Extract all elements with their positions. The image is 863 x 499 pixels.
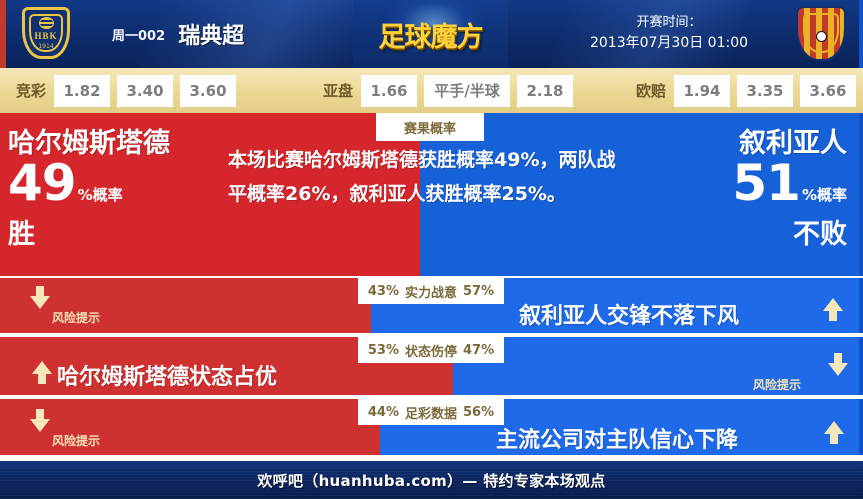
row3-risk-note: 风险提示 [52,432,100,449]
away-probability-outcome: 不败 [637,219,847,251]
row2-home-percent: 53% [368,343,399,358]
row3-home-percent: 44% [368,405,399,420]
away-probability-value-line: 51%概率 [637,159,847,219]
match-preview-infographic: HBK 1914 周一002 瑞典超 足球魔方 开赛时间： 2013年07月30… [0,0,863,499]
league-name: 瑞典超 [178,18,244,50]
odds-label-oupei: 欧赔 [636,80,666,101]
away-probability-summary: 叙利亚人 51%概率 不败 [637,129,847,251]
section-tag-result-probability: 赛果概率 [376,113,484,141]
row1-risk-arrow-down-icon [30,296,50,309]
away-probability-percent-suffix: %概率 [802,186,847,204]
row3-verdict-text: 主流公司对主队信心下降 [496,422,738,454]
away-probability-percent: 51 [732,154,800,212]
away-crest-ball-icon [816,31,827,42]
header-left-accent [0,0,6,68]
row3-right-accent [859,399,863,455]
odds-group-yapan: 亚盘 1.66 平手/半球 2.18 [323,75,580,107]
kickoff-time: 开赛时间： 2013年07月30日 01:00 [560,13,778,53]
odds-cell-oupei-3[interactable]: 3.66 [800,75,856,107]
match-round-label: 周一002 [112,25,165,44]
row1-risk-note: 风险提示 [52,309,100,326]
row1-away-percent: 57% [463,284,494,299]
header-right-accent [859,0,863,68]
home-probability-percent-suffix: %概率 [78,186,123,204]
odds-cell-jingcai-1[interactable]: 1.82 [54,75,110,107]
row3-risk-arrow-down-icon [30,419,50,432]
probability-right-accent [859,113,863,276]
row2-away-percent: 47% [463,343,494,358]
odds-label-yapan: 亚盘 [323,80,353,101]
odds-group-jingcai: 竞彩 1.82 3.40 3.60 [16,75,243,107]
result-probability-panel: 赛果概率 哈尔姆斯塔德 49%概率 胜 叙利亚人 51%概率 不败 本场比赛哈尔… [0,113,863,276]
row1-metric-name: 实力战意 [405,282,457,301]
row2-risk-arrow-down-icon [828,363,848,376]
row3-away-percent: 56% [463,405,494,420]
row2-right-accent [859,337,863,395]
row1-right-accent [859,278,863,333]
row1-verdict-arrow-up-icon [823,298,843,311]
row3-verdict-arrow-up-icon [824,421,844,434]
brand-logo-text: 足球魔方 [379,15,483,54]
odds-group-oupei: 欧赔 1.94 3.35 3.66 [636,75,863,107]
footer-bar: 欢呼吧（huanhuba.com）— 特约专家本场观点 [0,461,863,499]
away-team-crest-icon [793,4,849,64]
home-crest-year: 1914 [18,43,74,50]
row1-verdict-text: 叙利亚人交锋不落下风 [519,298,739,330]
row3-metric-tag: 44% 足彩数据 56% [358,399,504,425]
odds-cell-yapan-1[interactable]: 1.66 [361,75,417,107]
row2-verdict-arrow-up-icon [32,361,52,374]
kickoff-value: 2013年07月30日 01:00 [560,33,778,53]
probability-description: 本场比赛哈尔姆斯塔德获胜概率49%，两队战平概率26%，叙利亚人获胜概率25%。 [228,143,628,211]
comparison-row-strength: 43% 实力战意 57% 风险提示 叙利亚人交锋不落下风 [0,278,863,333]
home-crest-ball-icon [39,17,54,29]
home-crest-initials: HBK [18,31,74,41]
home-probability-summary: 哈尔姆斯塔德 49%概率 胜 [8,129,218,251]
footer-text: 欢呼吧（huanhuba.com）— 特约专家本场观点 [257,470,605,491]
home-team-crest-icon: HBK 1914 [18,5,74,63]
comparison-row-form: 53% 状态伤停 47% 哈尔姆斯塔德状态占优 风险提示 [0,337,863,395]
home-probability-percent: 49 [8,154,76,212]
row1-home-percent: 43% [368,284,399,299]
odds-bar: 竞彩 1.82 3.40 3.60 亚盘 1.66 平手/半球 2.18 欧赔 … [0,68,863,113]
row2-away-bar [453,337,863,395]
row2-risk-note: 风险提示 [753,376,801,393]
odds-cell-yapan-2[interactable]: 2.18 [517,75,573,107]
odds-cell-oupei-1[interactable]: 1.94 [674,75,730,107]
home-probability-outcome: 胜 [8,219,218,251]
row2-metric-name: 状态伤停 [405,341,457,360]
row3-metric-name: 足彩数据 [405,403,457,422]
odds-cell-oupei-2[interactable]: 3.35 [737,75,793,107]
odds-label-jingcai: 竞彩 [16,80,46,101]
odds-cell-jingcai-3[interactable]: 3.60 [180,75,236,107]
brand-logo: 足球魔方 [353,0,508,68]
comparison-row-betting-data: 44% 足彩数据 56% 风险提示 主流公司对主队信心下降 [0,399,863,455]
row1-metric-tag: 43% 实力战意 57% [358,278,504,304]
odds-cell-yapan-handicap[interactable]: 平手/半球 [424,75,510,107]
odds-cell-jingcai-2[interactable]: 3.40 [117,75,173,107]
row2-metric-tag: 53% 状态伤停 47% [358,337,504,363]
kickoff-label: 开赛时间： [560,13,778,33]
row2-verdict-text: 哈尔姆斯塔德状态占优 [57,359,277,391]
match-title: 周一002 瑞典超 [112,18,244,50]
header-bar: HBK 1914 周一002 瑞典超 足球魔方 开赛时间： 2013年07月30… [0,0,863,68]
home-probability-value-line: 49%概率 [8,159,218,219]
